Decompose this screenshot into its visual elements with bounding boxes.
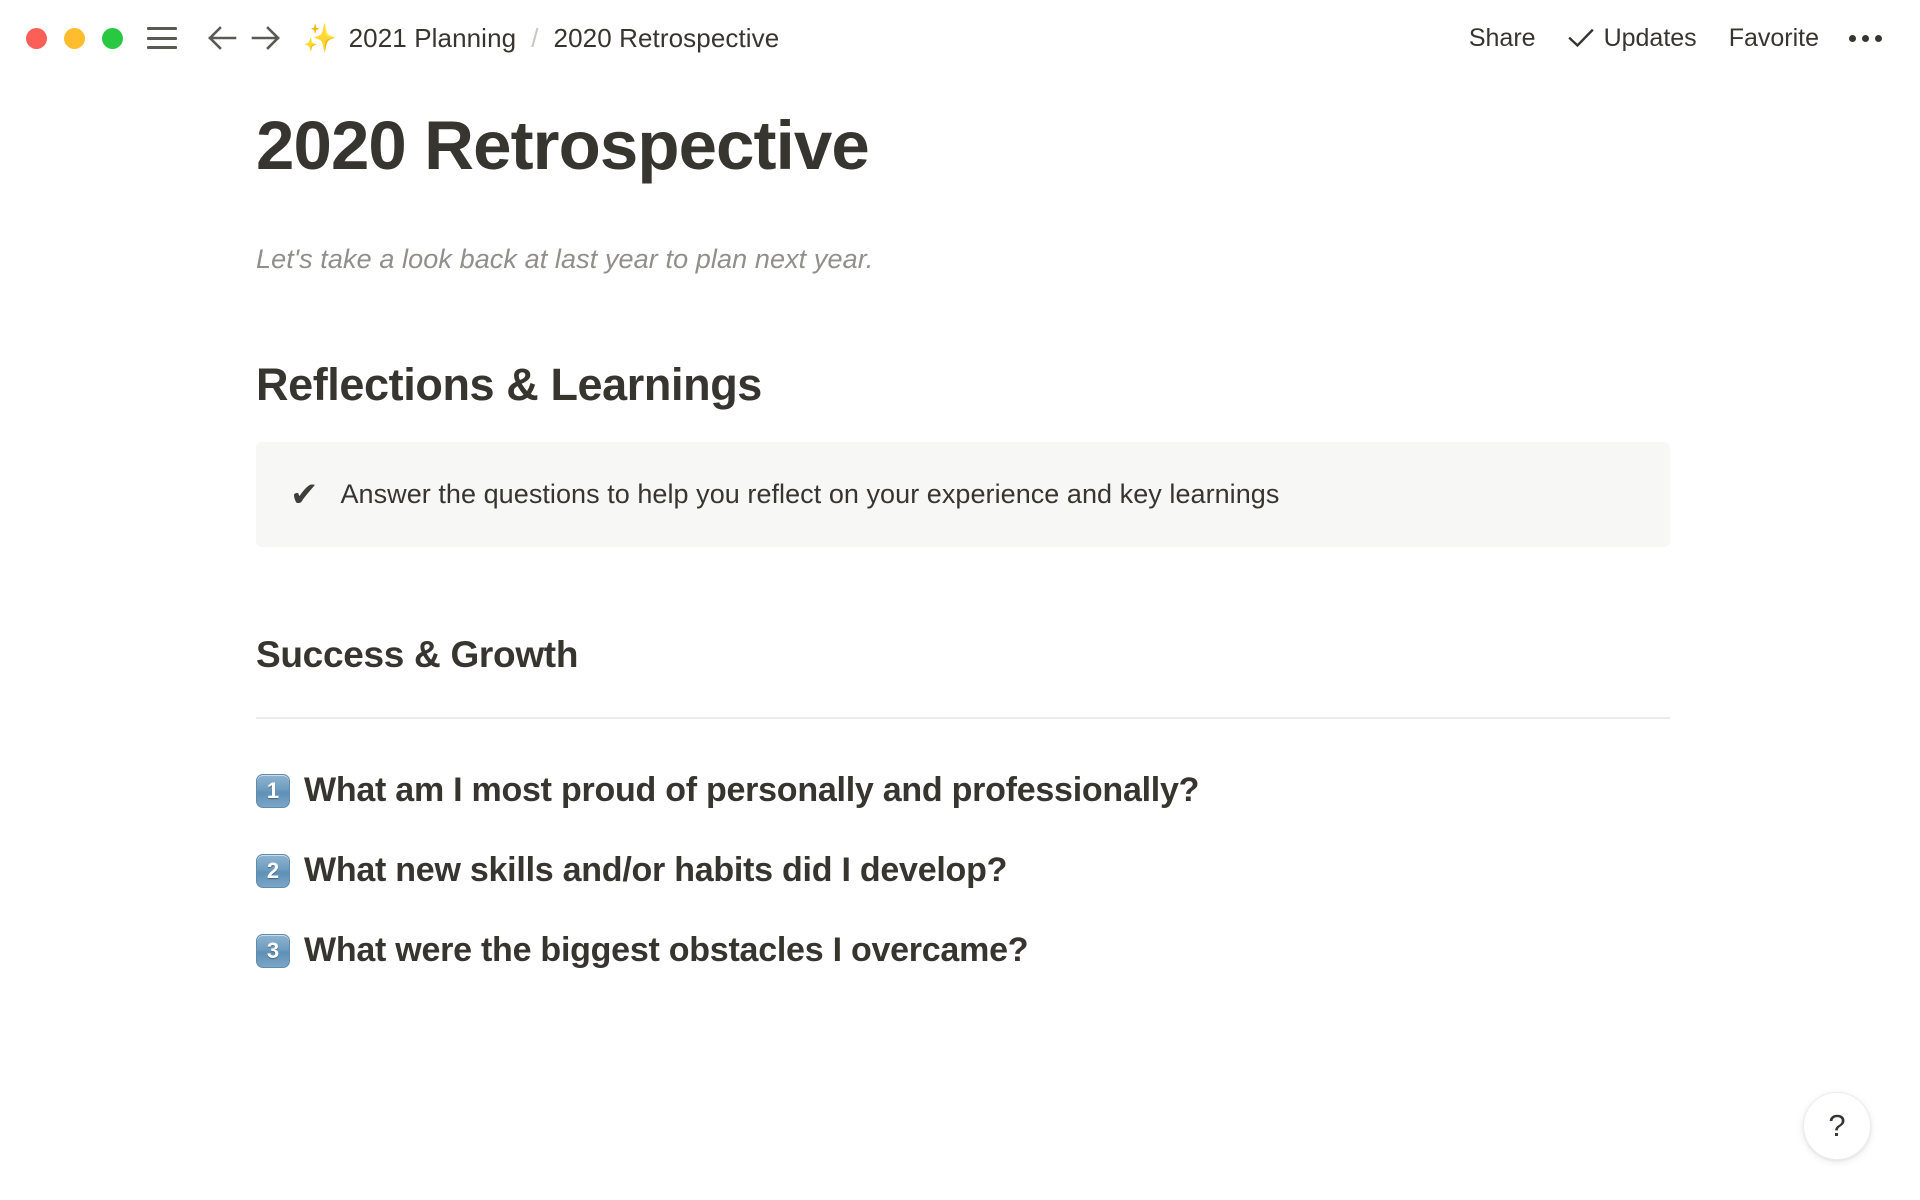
minimize-window-button[interactable]: [64, 28, 85, 49]
breadcrumb-separator: /: [531, 23, 538, 54]
section-heading-reflections[interactable]: Reflections & Learnings: [256, 359, 1670, 411]
question-list: 1 What am I most proud of personally and…: [256, 771, 1670, 970]
breadcrumb: 2021 Planning / 2020 Retrospective: [349, 23, 780, 54]
breadcrumb-item-current[interactable]: 2020 Retrospective: [554, 23, 780, 54]
share-label: Share: [1469, 24, 1536, 53]
keycap-number-icon: 2: [256, 854, 290, 888]
updates-button[interactable]: Updates: [1552, 18, 1713, 59]
ellipsis-dot: [1862, 35, 1869, 42]
traffic-light-group: [26, 28, 123, 49]
hamburger-bar: [147, 46, 177, 49]
keycap-number-icon: 1: [256, 774, 290, 808]
favorite-label: Favorite: [1729, 24, 1819, 53]
question-row[interactable]: 1 What am I most proud of personally and…: [256, 771, 1670, 810]
section-heading-success[interactable]: Success & Growth: [256, 634, 1670, 676]
keycap-number-icon: 3: [256, 934, 290, 968]
hamburger-menu-icon[interactable]: [147, 27, 177, 49]
hamburger-bar: [147, 27, 177, 30]
callout-text: Answer the questions to help you reflect…: [341, 479, 1280, 510]
sparkles-emoji-icon: ✨: [303, 25, 337, 52]
topbar-actions: Share Updates Favorite: [1453, 18, 1896, 59]
ellipsis-icon[interactable]: [1835, 29, 1896, 48]
close-window-button[interactable]: [26, 28, 47, 49]
ellipsis-dot: [1875, 35, 1882, 42]
checkmark-emoji-icon: ✔: [290, 478, 319, 512]
updates-label: Updates: [1604, 24, 1697, 53]
checkmark-icon: [1568, 28, 1594, 48]
page-title[interactable]: 2020 Retrospective: [256, 110, 1670, 182]
ellipsis-dot: [1849, 35, 1856, 42]
section-divider: [256, 717, 1670, 719]
help-button[interactable]: ?: [1803, 1092, 1871, 1160]
window-title-bar: ✨ 2021 Planning / 2020 Retrospective Sha…: [0, 0, 1920, 76]
favorite-button[interactable]: Favorite: [1713, 18, 1835, 59]
page-subtitle[interactable]: Let's take a look back at last year to p…: [256, 244, 1670, 275]
hamburger-bar: [147, 37, 177, 40]
content-column: 2020 Retrospective Let's take a look bac…: [256, 110, 1670, 970]
question-text: What new skills and/or habits did I deve…: [304, 851, 1007, 890]
question-row[interactable]: 2 What new skills and/or habits did I de…: [256, 851, 1670, 890]
callout-block[interactable]: ✔ Answer the questions to help you refle…: [256, 442, 1670, 547]
page-content: 2020 Retrospective Let's take a look bac…: [0, 110, 1920, 970]
question-mark-icon: ?: [1828, 1108, 1845, 1144]
share-button[interactable]: Share: [1453, 18, 1552, 59]
maximize-window-button[interactable]: [102, 28, 123, 49]
arrow-left-icon[interactable]: [205, 23, 239, 53]
question-text: What am I most proud of personally and p…: [304, 771, 1199, 810]
arrow-right-icon[interactable]: [249, 23, 283, 53]
breadcrumb-item-parent[interactable]: 2021 Planning: [349, 23, 517, 54]
question-row[interactable]: 3 What were the biggest obstacles I over…: [256, 931, 1670, 970]
question-text: What were the biggest obstacles I overca…: [304, 931, 1028, 970]
